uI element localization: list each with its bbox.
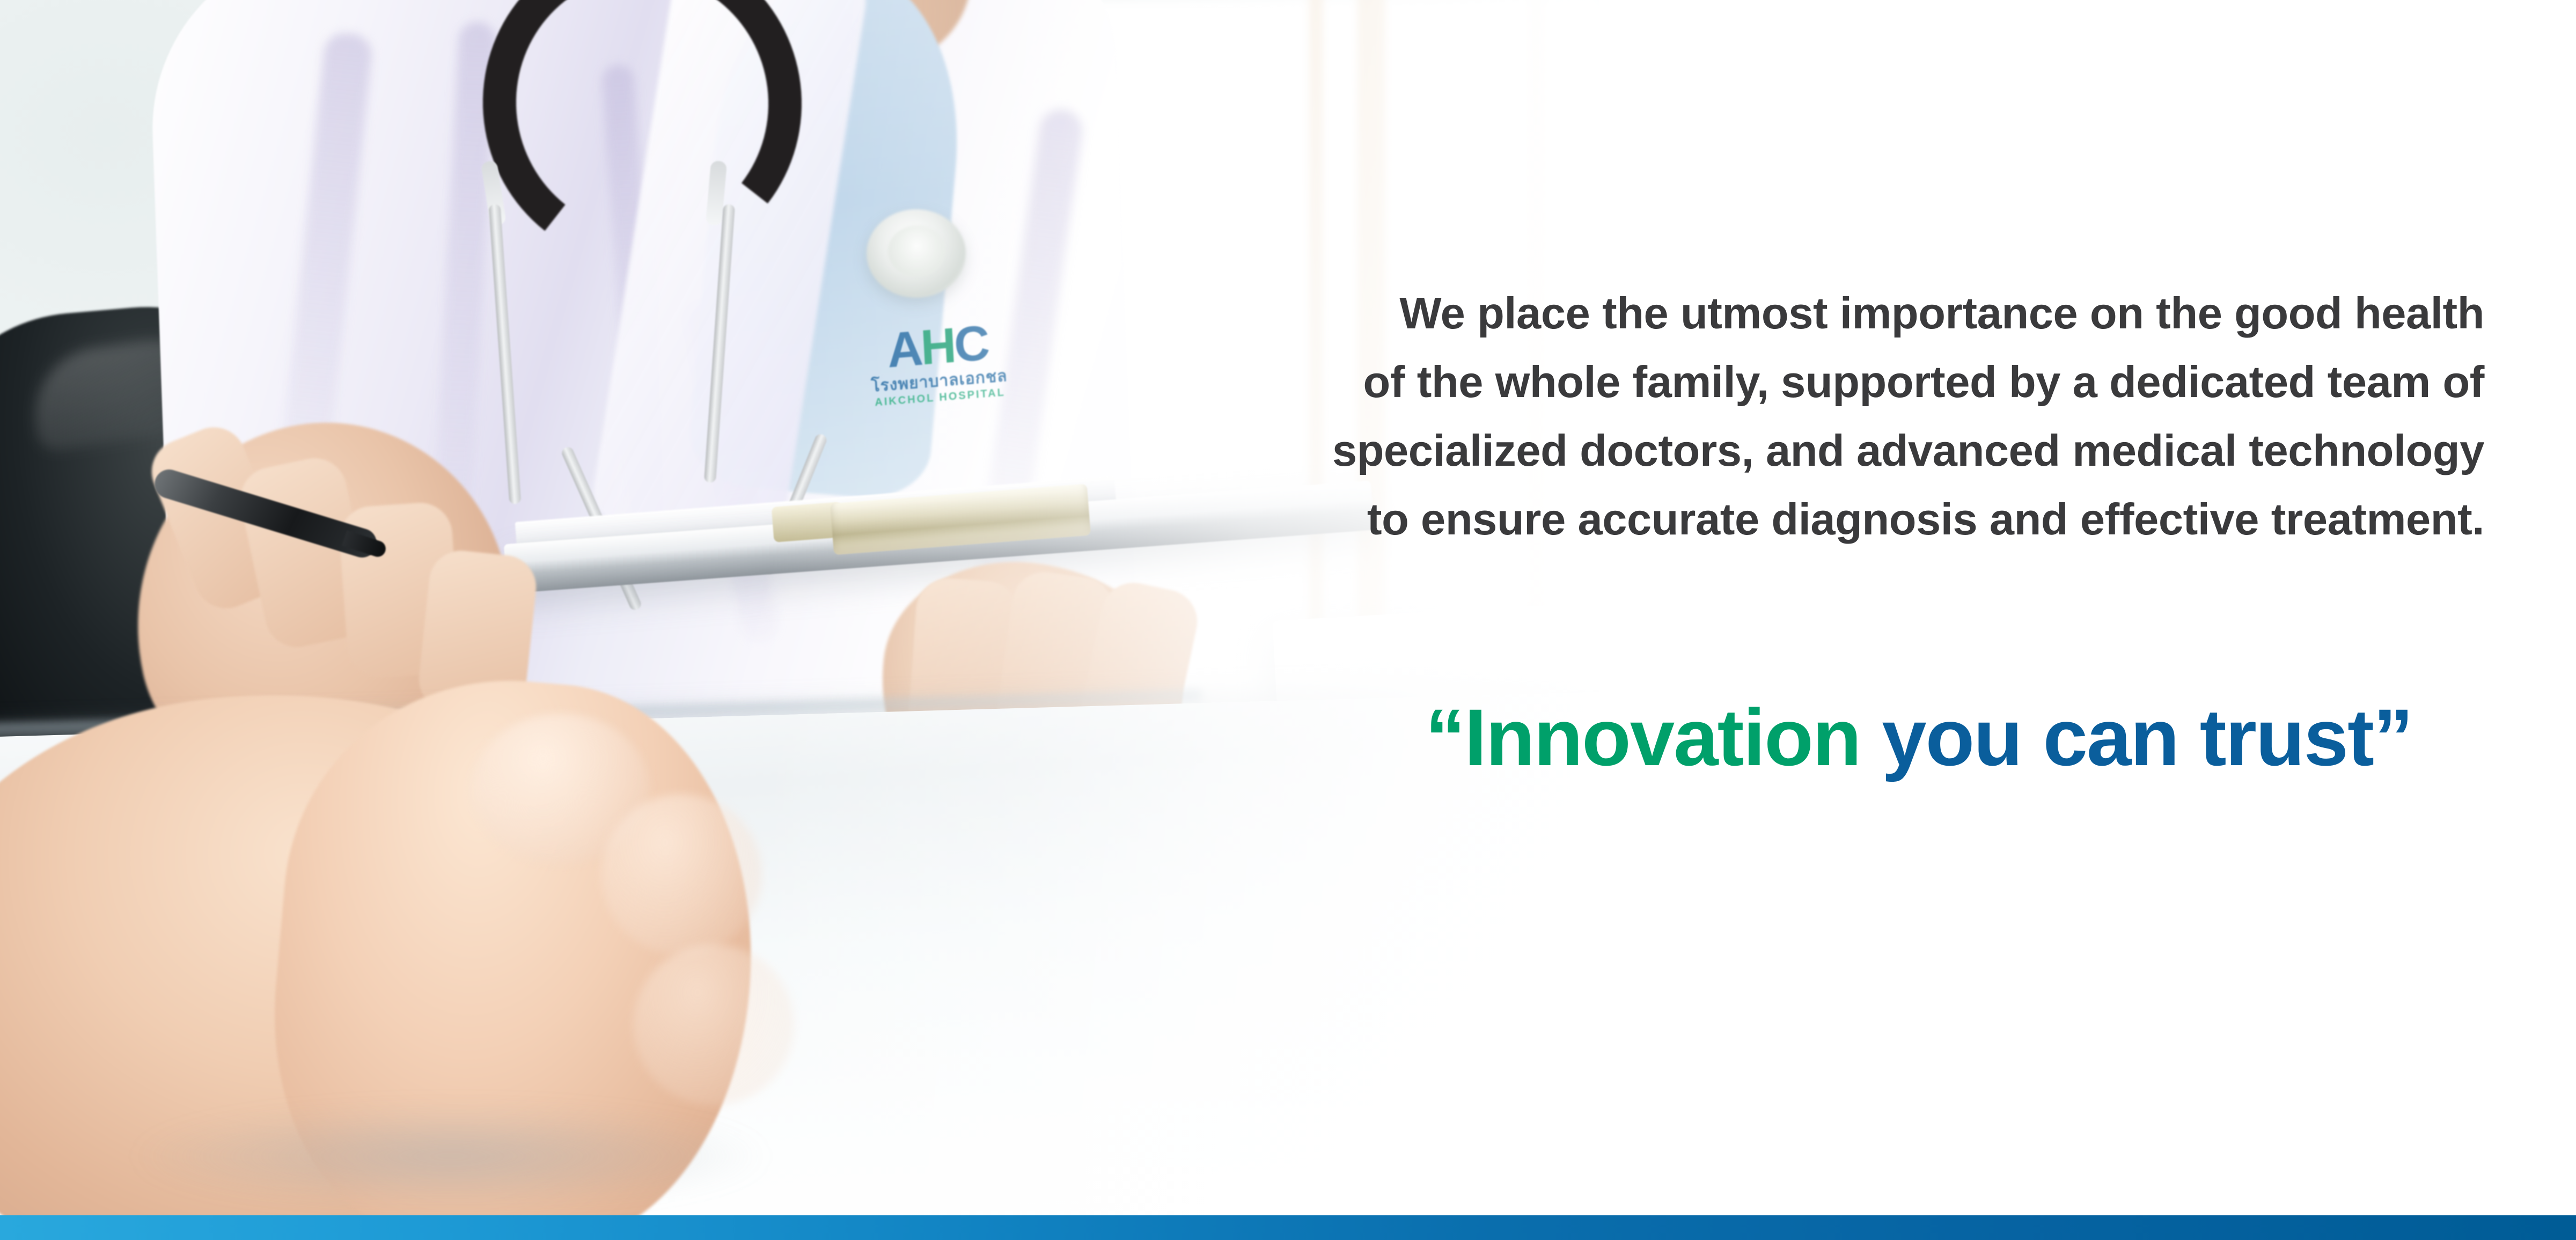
tagline-close-quote: ”: [2373, 692, 2412, 782]
logo-letter-c: C: [953, 315, 989, 373]
stethoscope-diaphragm: [888, 225, 946, 277]
knuckle-highlight: [633, 944, 794, 1105]
tagline-open-quote: “: [1425, 692, 1464, 782]
hero-copy-block: We place the utmost importance on the go…: [1223, 279, 2484, 554]
logo-letter-a: A: [886, 321, 922, 378]
tagline-rest: you can trust: [1882, 692, 2373, 782]
hospital-hero-banner: AHC โรงพยาบาลเอกชล AIKCHOL HOSPITAL: [0, 0, 2576, 1240]
bottom-accent-bar: [0, 1215, 2576, 1240]
knuckle-highlight: [601, 794, 762, 955]
copy-line-4: to ensure accurate diagnosis and effecti…: [1223, 485, 2484, 554]
copy-line-2: of the whole family, supported by a dedi…: [1223, 348, 2484, 416]
clinic-consultation-photo: AHC โรงพยาบาลเอกชล AIKCHOL HOSPITAL: [0, 0, 1599, 1215]
tagline-space: [1860, 692, 1882, 782]
tagline-highlight: Innovation: [1464, 692, 1860, 782]
copy-line-3: specialized doctors, and advanced medica…: [1223, 416, 2484, 485]
logo-letter-h: H: [919, 318, 956, 376]
hero-tagline: “Innovation you can trust”: [1425, 695, 2412, 780]
copy-line-1: We place the utmost importance on the go…: [1223, 279, 2484, 348]
hand-shadow: [129, 1105, 773, 1207]
ahc-hospital-logo: AHC โรงพยาบาลเอกชล AIKCHOL HOSPITAL: [856, 315, 1022, 435]
